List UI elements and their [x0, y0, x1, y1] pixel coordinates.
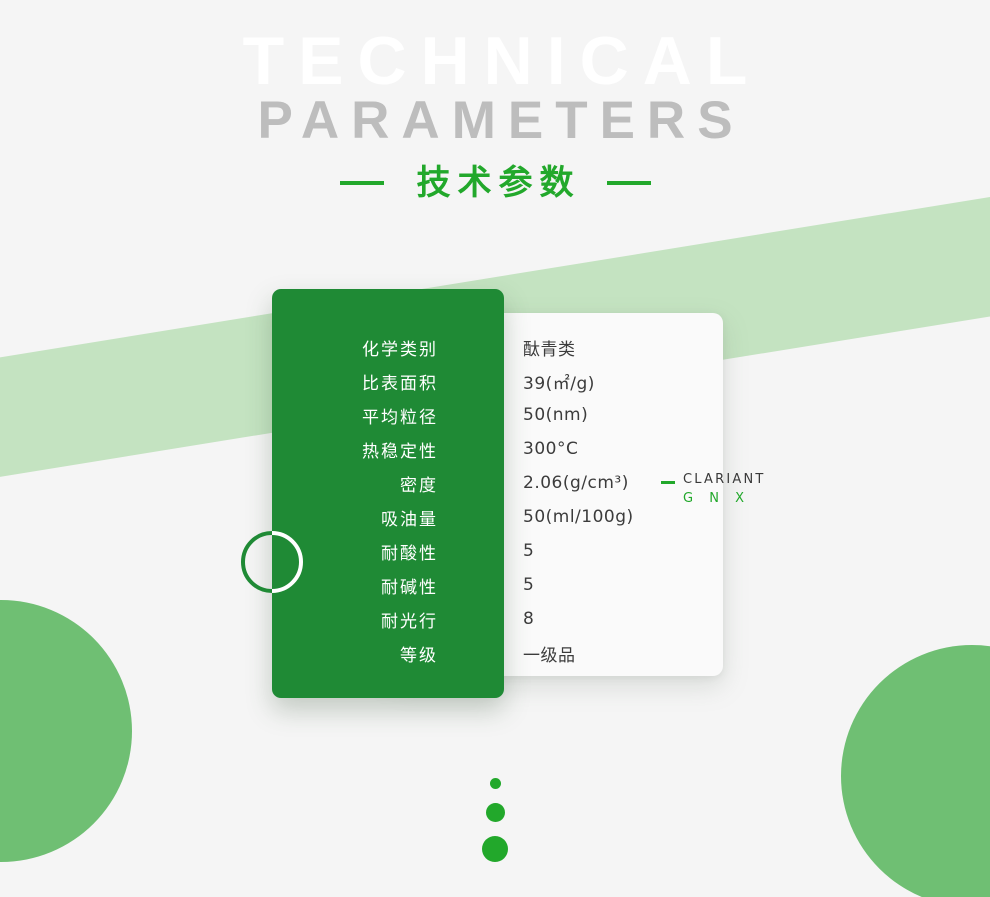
pagination-dot-medium[interactable] — [486, 803, 505, 822]
spec-label: 密度 — [272, 471, 450, 496]
spec-value: 8 — [450, 609, 742, 629]
brand-text: CLARIANT G N X — [683, 470, 766, 508]
spec-value: 5 — [450, 575, 742, 595]
spec-label: 耐酸性 — [272, 539, 450, 564]
spec-value: 300°C — [450, 439, 742, 459]
table-row: 热稳定性 300°C — [272, 432, 742, 466]
brand-mark: CLARIANT G N X — [661, 470, 766, 508]
dash-left-icon — [340, 181, 384, 185]
dash-right-icon — [607, 181, 651, 185]
spec-value: 50(ml/100g) — [450, 507, 742, 527]
spec-label: 化学类别 — [272, 335, 450, 360]
table-row: 耐碱性 5 — [272, 568, 742, 602]
spec-value: 50(nm) — [450, 405, 742, 425]
spec-label: 平均粒径 — [272, 403, 450, 428]
page-title-parameters: PARAMETERS — [0, 94, 990, 147]
spec-value: 酞青类 — [450, 335, 742, 360]
spec-label: 热稳定性 — [272, 437, 450, 462]
table-row: 耐酸性 5 — [272, 534, 742, 568]
brand-sub: G N X — [683, 491, 750, 506]
table-row: 耐光行 8 — [272, 602, 742, 636]
spec-label: 比表面积 — [272, 369, 450, 394]
spec-value: 39(㎡/g) — [450, 369, 742, 394]
spec-label: 吸油量 — [272, 505, 450, 530]
spec-value: 5 — [450, 541, 742, 561]
pagination-dots — [0, 778, 990, 862]
spec-label: 耐光行 — [272, 607, 450, 632]
table-row: 化学类别 酞青类 — [272, 330, 742, 364]
pagination-dot-small[interactable] — [490, 778, 501, 789]
technical-parameters-page: TECHNICAL PARAMETERS 技术参数 化学类别 酞青类 比表面积 … — [0, 0, 990, 897]
pagination-dot-large[interactable] — [482, 836, 508, 862]
subtitle-row: 技术参数 — [0, 166, 990, 200]
page-subtitle-cn: 技术参数 — [410, 166, 581, 200]
table-row: 比表面积 39(㎡/g) — [272, 364, 742, 398]
brand-dash-icon — [661, 481, 675, 484]
spec-value: 一级品 — [450, 641, 742, 666]
page-title-technical: TECHNICAL — [0, 27, 990, 95]
brand-name: CLARIANT — [683, 472, 766, 487]
spec-label: 等级 — [272, 641, 450, 666]
table-row: 平均粒径 50(nm) — [272, 398, 742, 432]
spec-label: 耐碱性 — [272, 573, 450, 598]
table-row: 等级 一级品 — [272, 636, 742, 670]
